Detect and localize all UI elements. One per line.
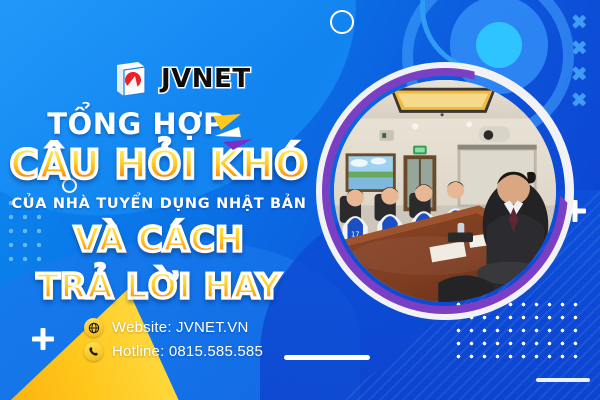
headline-subtitle: CỦA NHÀ TUYỂN DỤNG NHẬT BẢN	[0, 197, 318, 212]
plus-mark-icon	[32, 328, 54, 350]
headline-block: TỔNG HỢP CÂU HỎI KHÓ CỦA NHÀ TUYỂN DỤNG …	[0, 110, 318, 304]
headline-line-5: TRẢ LỜI HAY	[0, 270, 318, 304]
headline-line-2: CÂU HỎI KHÓ	[0, 146, 318, 185]
paper-plane-decor	[205, 112, 265, 154]
globe-icon	[84, 318, 103, 337]
x-mark-icon	[571, 40, 586, 55]
small-ring-top-decor	[330, 10, 354, 34]
book-japan-flag-icon	[108, 56, 154, 102]
brand-logo: JVNET	[108, 56, 251, 102]
hotline-text: Hotline: 0815.585.585	[112, 343, 263, 360]
x-mark-icon	[571, 14, 586, 29]
contact-row-hotline[interactable]: Hotline: 0815.585.585	[84, 342, 263, 361]
white-bar-small-decor	[536, 378, 590, 382]
photo-circle: 17 15 21	[316, 62, 574, 320]
promo-banner: JVNET TỔNG HỢP CÂU HỎI KHÓ CỦA NHÀ TUYỂN…	[0, 0, 600, 400]
website-text: Website: JVNET.VN	[112, 319, 249, 336]
logo-wordmark: JVNET	[161, 64, 251, 94]
contact-block: Website: JVNET.VN Hotline: 0815.585.585	[84, 318, 263, 366]
contact-row-website[interactable]: Website: JVNET.VN	[84, 318, 263, 337]
phone-icon	[84, 342, 103, 361]
headline-line-1: TỔNG HỢP	[0, 110, 318, 139]
white-bar-decor	[284, 355, 370, 360]
headline-line-4: VÀ CÁCH	[0, 223, 318, 257]
